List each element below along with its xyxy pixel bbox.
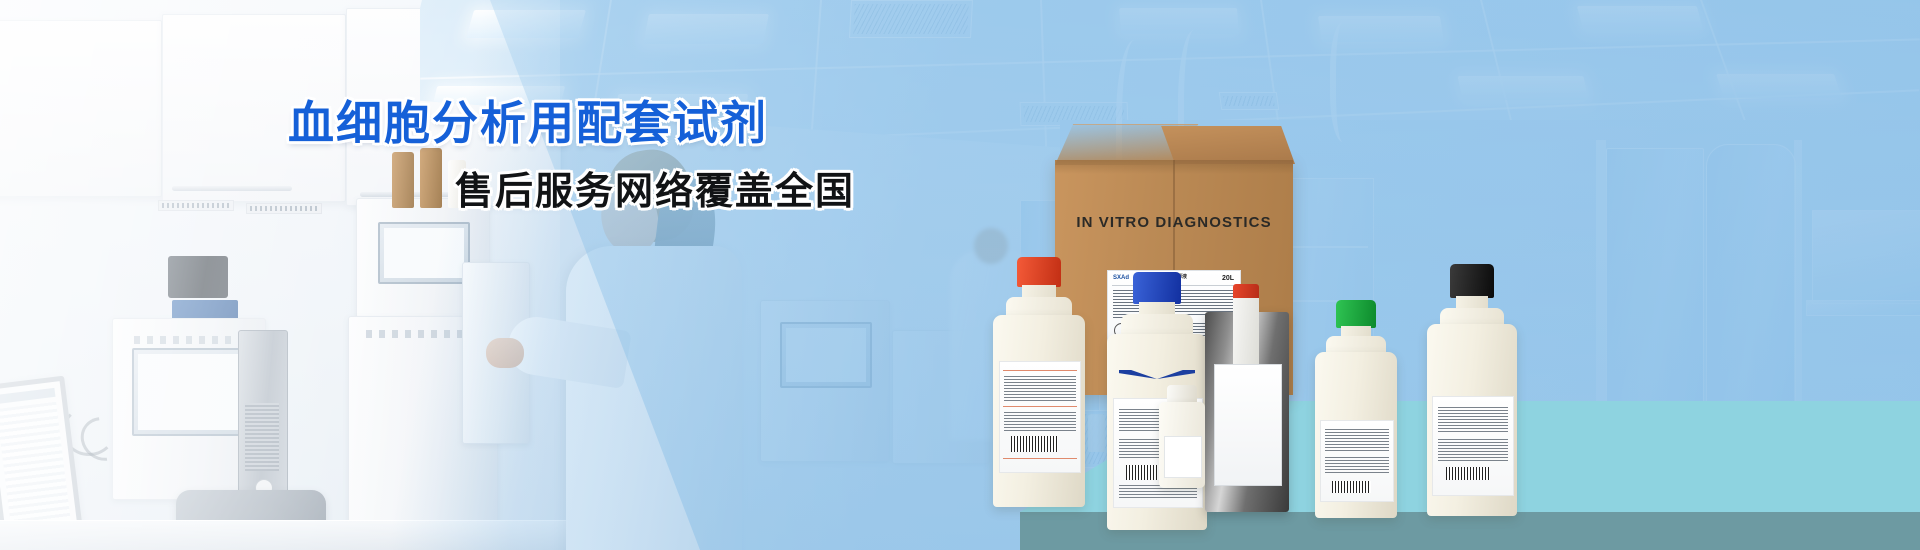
small-vial <box>1159 402 1205 488</box>
label-text <box>1004 412 1075 432</box>
carton-flap-right <box>1161 126 1295 164</box>
label-volume: 20L <box>1222 275 1234 282</box>
banner-subheadline: 售后服务网络覆盖全国 <box>455 170 855 213</box>
label-barcode <box>1011 436 1058 452</box>
vial-label <box>1164 436 1203 478</box>
label-rule <box>1003 370 1077 371</box>
pouch-label <box>1214 364 1282 486</box>
bottle-cap-black <box>1450 264 1493 298</box>
carton-text: IN VITRO DIAGNOSTICS <box>1055 215 1293 230</box>
bottle-label <box>1432 396 1513 496</box>
bottle-cap-red <box>1017 257 1061 287</box>
banner-headline: 血细胞分析用配套试剂 <box>288 98 768 150</box>
label-text <box>1438 439 1508 461</box>
cleanser-bottle-black <box>1427 264 1517 516</box>
label-text <box>1004 376 1075 402</box>
bottle-label <box>999 361 1082 473</box>
pouch-tube-cap <box>1233 284 1259 298</box>
label-text <box>1438 407 1508 433</box>
hero-banner: IN VITRO DIAGNOSTICS SXAd 血细胞分析用稀释液 20L … <box>0 0 1920 550</box>
diluent-bottle-red <box>993 257 1085 507</box>
bottle-cap-blue <box>1133 272 1181 304</box>
left-white-glow-overlay <box>0 0 560 550</box>
label-text <box>1325 429 1389 451</box>
label-rule <box>1003 458 1077 459</box>
label-text <box>1325 457 1389 475</box>
bottle-label <box>1320 420 1394 502</box>
label-rule <box>1003 406 1077 407</box>
pouch-inner-tube <box>1233 294 1259 374</box>
label-barcode <box>1446 467 1490 480</box>
label-barcode <box>1332 481 1371 493</box>
product-group: IN VITRO DIAGNOSTICS SXAd 血细胞分析用稀释液 20L … <box>1055 160 1525 520</box>
rinse-bottle-green <box>1315 300 1397 518</box>
bottle-cap-green <box>1336 300 1375 328</box>
foil-pouch <box>1205 312 1289 512</box>
